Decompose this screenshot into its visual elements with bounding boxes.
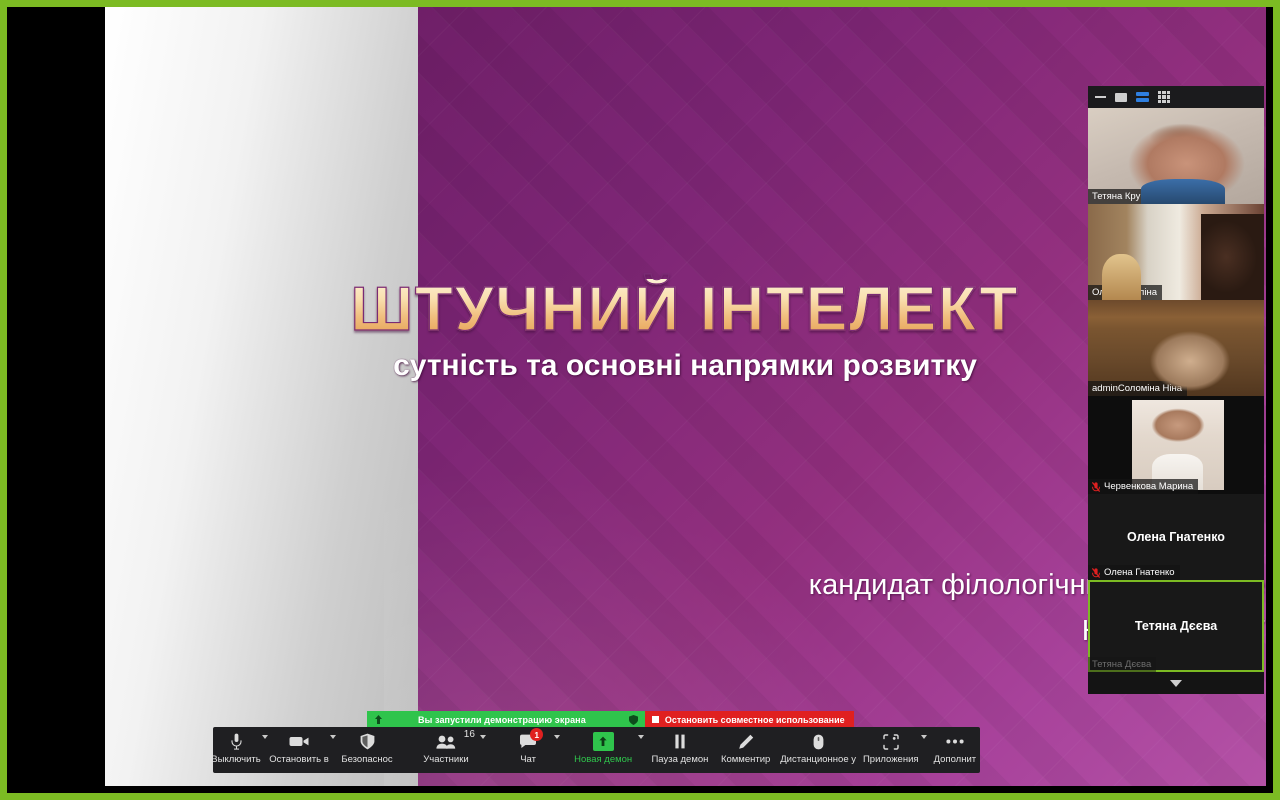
single-view-icon[interactable]	[1115, 93, 1127, 102]
toolbar-video-button[interactable]: Остановить в	[271, 727, 327, 765]
chevron-down-icon	[1170, 680, 1182, 687]
zoom-toolbar: Выключить Остановить в Безопаснос 16 Уча…	[213, 727, 980, 773]
toolbar-annotate-button[interactable]: Комментир	[713, 727, 779, 765]
toolbar-label-security: Безопаснос	[341, 754, 392, 765]
participant-tile-active-speaker[interactable]: Тетяна Дєєва Тетяна Дєєва	[1088, 580, 1264, 672]
participant-panel: Тетяна Крупеньова Ольга Амеліна adminСол…	[1088, 86, 1264, 694]
participant-name: Тетяна Крупеньова	[1088, 189, 1182, 204]
minimize-icon[interactable]	[1095, 96, 1106, 98]
mute-options-caret[interactable]	[259, 727, 271, 751]
participant-name: Тетяна Дєєва	[1088, 657, 1156, 672]
toolbar-remote-control-button[interactable]: Дистанционное у	[779, 727, 858, 765]
panel-view-controls	[1088, 86, 1264, 108]
participant-name: adminСоломіна Ніна	[1088, 381, 1187, 396]
stop-share-button[interactable]: Остановить совместное использование	[645, 711, 854, 728]
toolbar-participants-button[interactable]: 16 Участники	[415, 727, 477, 765]
stop-share-label: Остановить совместное использование	[665, 715, 845, 725]
slide-title: ШТУЧНИЙ ІНТЕЛЕКТ	[305, 279, 1065, 341]
toolbar-label-new-share: Новая демон	[574, 754, 632, 765]
chat-options-caret[interactable]	[551, 727, 563, 751]
toolbar-label-remote-control: Дистанционное у	[780, 754, 856, 765]
participant-video	[1132, 400, 1224, 490]
toolbar-label-mute: Выключить	[211, 754, 260, 765]
apps-options-caret[interactable]	[918, 727, 930, 751]
participant-name: Олена Гнатенко	[1088, 565, 1180, 580]
slide-subtitle: сутність та основні напрямки розвитку	[300, 349, 1070, 383]
shield-badge-icon	[629, 715, 638, 725]
shield-icon	[360, 732, 375, 751]
mic-muted-icon	[1092, 568, 1100, 578]
chevron-down-icon	[921, 735, 927, 739]
video-camera-icon	[289, 732, 309, 751]
chevron-down-icon	[480, 735, 486, 739]
share-status-text: Вы запустили демонстрацию экрана	[390, 715, 622, 725]
share-arrow-icon	[374, 715, 383, 725]
screen-root: ШТУЧНИЙ ІНТЕЛЕКТ сутність та основні нап…	[0, 0, 1280, 800]
ellipsis-icon	[946, 732, 964, 751]
split-view-icon[interactable]	[1136, 92, 1149, 102]
video-options-caret[interactable]	[327, 727, 339, 751]
share-status-banner: Вы запустили демонстрацию экрана	[367, 711, 645, 728]
participants-icon	[435, 732, 457, 751]
microphone-icon	[231, 732, 242, 751]
toolbar-label-video: Остановить в	[269, 754, 329, 765]
screen-share-banner: Вы запустили демонстрацию экрана Останов…	[367, 711, 854, 728]
panel-expand-button[interactable]	[1088, 672, 1264, 694]
pencil-icon	[738, 732, 754, 751]
toolbar-new-share-button[interactable]: Новая демон	[571, 727, 635, 765]
participant-name: Червенкова Марина	[1088, 479, 1198, 494]
share-screen-button-box	[593, 732, 614, 751]
toolbar-label-chat: Чат	[520, 754, 536, 765]
toolbar-pause-share-button[interactable]: Пауза демон	[647, 727, 713, 765]
participant-tile[interactable]: Червенкова Марина	[1088, 396, 1264, 494]
toolbar-mute-button[interactable]: Выключить	[213, 727, 259, 765]
chevron-down-icon	[638, 735, 644, 739]
apps-frame-icon	[883, 732, 899, 751]
participant-tile[interactable]: adminСоломіна Ніна	[1088, 300, 1264, 396]
pause-icon	[674, 732, 686, 751]
toolbar-label-more: Дополнит	[934, 754, 977, 765]
chevron-down-icon	[330, 735, 336, 739]
participants-count: 16	[464, 729, 475, 740]
stop-square-icon	[652, 716, 659, 723]
toolbar-label-pause-share: Пауза демон	[651, 754, 708, 765]
toolbar-security-button[interactable]: Безопаснос	[339, 727, 395, 765]
toolbar-label-annotate: Комментир	[721, 754, 770, 765]
chevron-down-icon	[262, 735, 268, 739]
toolbar-label-participants: Участники	[423, 754, 468, 765]
toolbar-more-button[interactable]: Дополнит	[930, 727, 980, 765]
participant-tile[interactable]: Тетяна Крупеньова	[1088, 108, 1264, 204]
toolbar-label-apps: Приложения	[863, 754, 919, 765]
share-screen-icon	[593, 732, 614, 751]
grid-view-icon[interactable]	[1158, 91, 1170, 103]
chevron-down-icon	[554, 735, 560, 739]
share-options-caret[interactable]	[635, 727, 647, 751]
toolbar-chat-button[interactable]: 1 Чат	[505, 727, 551, 765]
letterbox-right-bar	[1266, 7, 1273, 793]
letterbox-left-bar	[7, 7, 105, 793]
participants-options-caret[interactable]	[477, 727, 489, 751]
toolbar-apps-button[interactable]: Приложения	[864, 727, 918, 765]
participant-tile[interactable]: Ольга Амеліна	[1088, 204, 1264, 300]
participant-tile[interactable]: Олена Гнатенко Олена Гнатенко	[1088, 494, 1264, 580]
mic-muted-icon	[1092, 482, 1100, 492]
chat-unread-badge: 1	[530, 728, 543, 741]
participant-name: Ольга Амеліна	[1088, 285, 1162, 300]
mouse-icon	[813, 732, 824, 751]
